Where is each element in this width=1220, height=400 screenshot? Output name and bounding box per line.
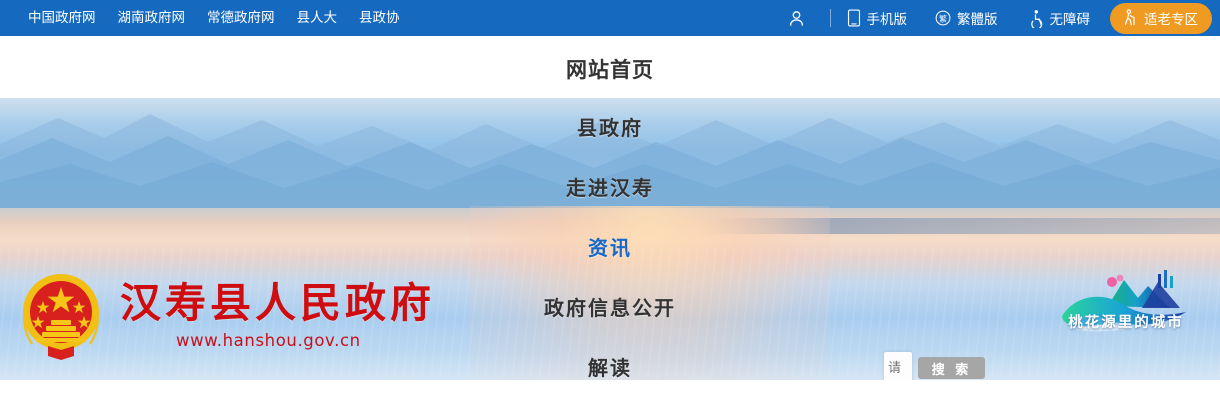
traditional-chinese-label: 繁體版 [957,8,998,28]
svg-text:繁: 繁 [939,13,947,23]
page-body-area [0,380,1220,400]
accessibility-label: 无障碍 [1050,8,1091,28]
topbar-link-changde-gov[interactable]: 常德政府网 [207,0,275,36]
page-title-band: 网站首页 [0,36,1220,98]
topbar-link-county-npc[interactable]: 县人大 [297,0,338,36]
main-vertical-nav: 县政府 走进汉寿 资讯 政府信息公开 解读 [0,98,1220,398]
topbar-link-hunan-gov[interactable]: 湖南政府网 [118,0,186,36]
toolbar-divider [830,9,831,27]
topbar-link-county-cppcc[interactable]: 县政协 [359,0,400,36]
elder-mode-button[interactable]: 适老专区 [1110,3,1212,34]
user-login-button[interactable] [775,0,828,36]
nav-item-about-hanshou[interactable]: 走进汉寿 [0,158,1220,218]
page-title: 网站首页 [0,54,1220,84]
mobile-phone-icon [847,9,861,27]
top-utility-bar: 中国政府网 湖南政府网 常德政府网 县人大 县政协 手机版 [0,0,1220,36]
elder-mode-label: 适老专区 [1144,8,1198,28]
mobile-version-label: 手机版 [867,8,908,28]
traditional-chinese-button[interactable]: 繁 繁體版 [921,0,1012,36]
accessibility-button[interactable]: 无障碍 [1012,0,1105,36]
topbar-link-china-gov[interactable]: 中国政府网 [28,0,96,36]
user-icon [787,9,806,28]
utility-actions-group: 手机版 繁 繁體版 无障碍 [775,0,1213,36]
nav-item-county-government[interactable]: 县政府 [0,98,1220,158]
mobile-version-button[interactable]: 手机版 [833,0,922,36]
traditional-chinese-icon: 繁 [935,10,951,26]
nav-item-government-disclosure[interactable]: 政府信息公开 [0,278,1220,338]
elderly-person-icon [1122,9,1138,26]
external-links-group: 中国政府网 湖南政府网 常德政府网 县人大 县政协 [28,0,400,36]
accessibility-wheelchair-icon [1026,9,1044,28]
nav-item-news[interactable]: 资讯 [0,218,1220,278]
